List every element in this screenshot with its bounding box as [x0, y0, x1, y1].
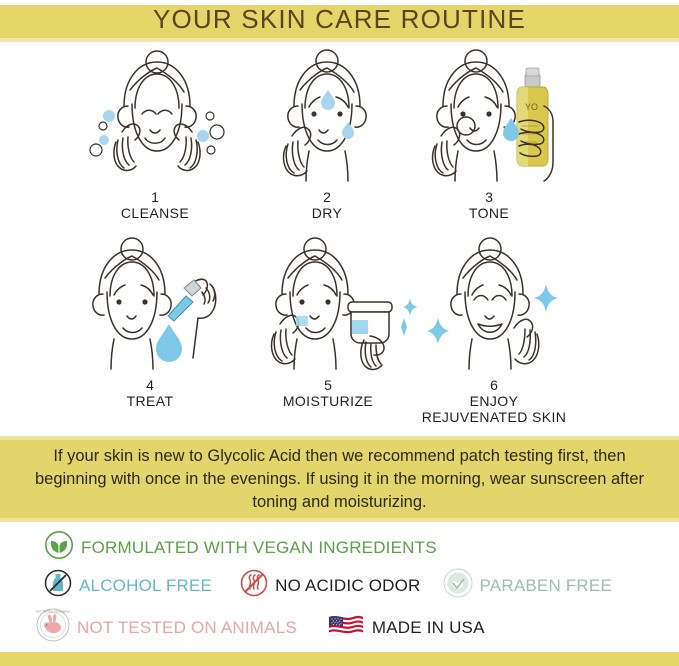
badge-label: NO ACIDIC ODOR [275, 576, 420, 596]
paraben-free-seal-icon [443, 568, 473, 603]
badge-not-tested-on-animals: NOT TESTED ON ANIMALS NOT TESTED ON ANIM… [36, 608, 297, 647]
title-band-underline [0, 38, 679, 42]
step-label: ENJOY [404, 393, 584, 409]
step-4-treat: 4 TREAT [60, 232, 240, 409]
note-panel-bottom-edge [0, 518, 679, 522]
face-toning-with-bottle-icon: YO [404, 44, 574, 189]
badge-made-in-usa: MADE IN USA [327, 612, 485, 643]
badge-row-2: ALCOHOL FREE NO ACIDIC ODOR [44, 568, 612, 603]
step-label: TONE [404, 205, 574, 221]
us-flag-icon [327, 612, 365, 643]
step-number: 5 [248, 378, 408, 393]
face-patting-dry-icon [252, 44, 402, 189]
badge-label: FORMULATED WITH VEGAN INGREDIENTS [81, 538, 437, 558]
step-label: MOISTURIZE [248, 393, 408, 409]
bottom-band [0, 652, 679, 666]
page-title: YOUR SKIN CARE ROUTINE [0, 4, 679, 35]
badge-row-3: NOT TESTED ON ANIMALS NOT TESTED ON ANIM… [36, 608, 485, 647]
step-number: 1 [60, 190, 250, 205]
face-dropper-serum-icon [60, 232, 240, 377]
badge-alcohol-free: ALCOHOL FREE [44, 569, 212, 602]
step-2-dry: 2 DRY [252, 44, 402, 221]
step-number: 3 [404, 190, 574, 205]
badges-section: FORMULATED WITH VEGAN INGREDIENTS ALCOHO [0, 524, 679, 652]
step-label-line2: REJUVENATED SKIN [404, 409, 584, 425]
step-label: TREAT [60, 393, 240, 409]
cruelty-free-bunny-icon: NOT TESTED ON ANIMALS [36, 608, 70, 647]
step-label: CLEANSE [60, 205, 250, 221]
svg-text:YO: YO [525, 102, 538, 112]
badge-label: ALCOHOL FREE [79, 576, 212, 596]
step-number: 2 [252, 190, 402, 205]
badge-vegan: FORMULATED WITH VEGAN INGREDIENTS [44, 530, 437, 565]
note-panel: If your skin is new to Glycolic Acid the… [0, 440, 679, 518]
badge-label: MADE IN USA [372, 618, 485, 638]
step-6-enjoy: 6 ENJOY REJUVENATED SKIN [404, 232, 584, 425]
badge-label: NOT TESTED ON ANIMALS [77, 618, 297, 638]
step-1-cleanse: 1 CLEANSE [60, 44, 250, 221]
face-washing-with-bubbles-icon [60, 44, 250, 189]
step-5-moisturize: 5 MOISTURIZE [248, 232, 408, 409]
svg-text:NOT TESTED ON ANIMALS: NOT TESTED ON ANIMALS [36, 610, 70, 614]
face-cream-jar-icon [248, 232, 408, 377]
note-text: If your skin is new to Glycolic Acid the… [25, 445, 655, 514]
steps-grid: 1 CLEANSE [0, 44, 679, 432]
step-number: 4 [60, 378, 240, 393]
badge-paraben-free: PARABEN FREE [443, 568, 612, 603]
toner-bottle: YO [517, 68, 548, 166]
infographic-sheet: YOUR SKIN CARE ROUTINE [0, 0, 679, 666]
badge-row-1: FORMULATED WITH VEGAN INGREDIENTS [44, 530, 437, 565]
leaf-circle-icon [44, 530, 74, 565]
face-sparkles-icon [404, 232, 584, 377]
step-label: DRY [252, 205, 402, 221]
cream-jar [348, 302, 392, 343]
step-number: 6 [404, 378, 584, 393]
no-alcohol-bottle-icon [44, 569, 72, 602]
dropper [168, 280, 201, 321]
badge-label: PARABEN FREE [480, 576, 612, 596]
badge-no-acidic-odor: NO ACIDIC ODOR [240, 569, 420, 602]
step-3-tone: YO 3 TONE [404, 44, 574, 221]
no-odor-icon [240, 569, 268, 602]
